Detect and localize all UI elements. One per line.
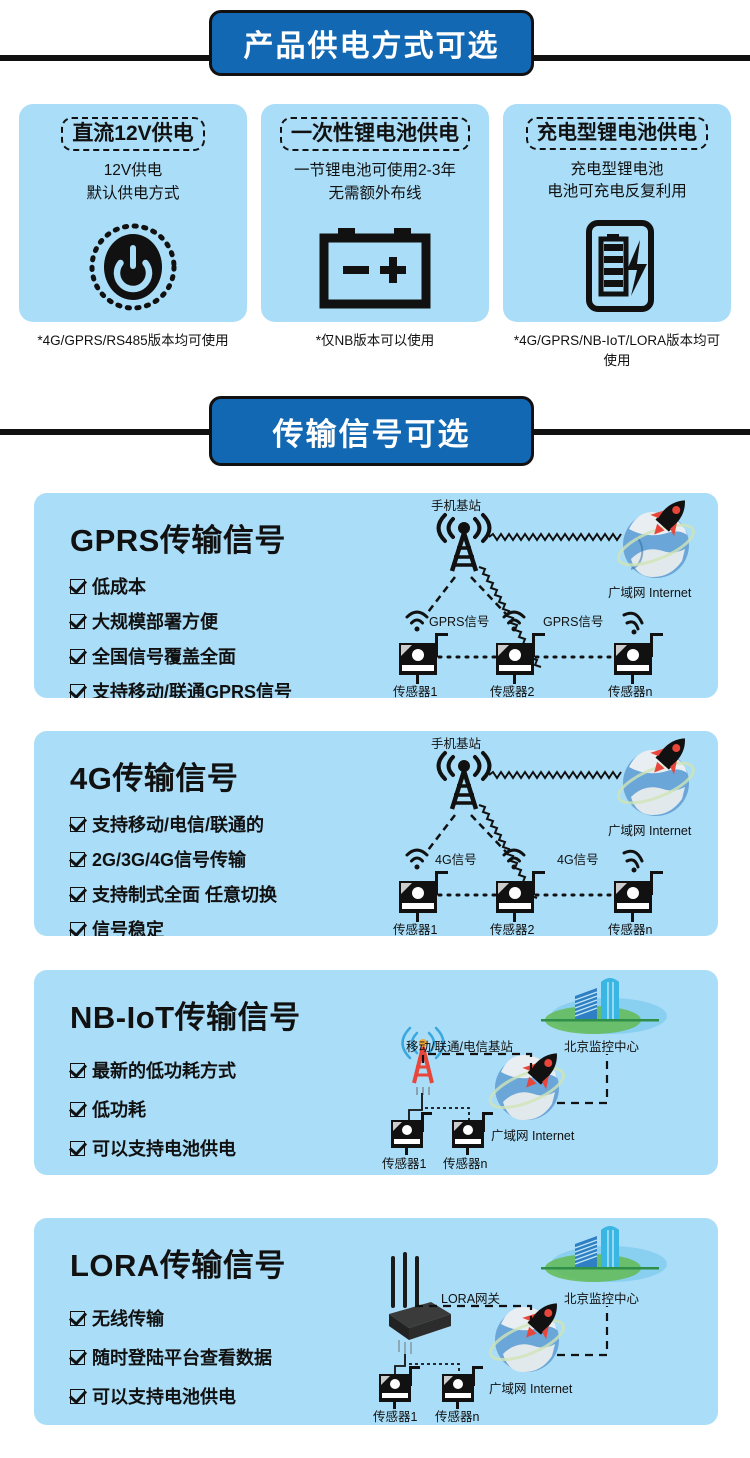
sensor-label: 传感器n — [435, 1406, 479, 1425]
wifi-icon — [504, 612, 524, 632]
diagram-lora: LORA网关 北京监控中心 广域网 Internet 传感器1 传感器n — [379, 1218, 718, 1425]
sensor-label: 传感器2 — [490, 681, 534, 698]
cell-tower-icon — [439, 515, 490, 571]
panel-4g-text: 4G传输信号 支持移动/电信/联通的 2G/3G/4G信号传输 支持制式全面 任… — [70, 753, 277, 936]
diagram-gprs: 手机基站 广域网 Internet GPRS信号 GPRS信号 传感器1 传感器… — [379, 493, 718, 698]
sensor-label: 传感器1 — [373, 1406, 417, 1425]
check-icon — [70, 579, 85, 594]
signal-label: 4G信号 — [435, 849, 477, 868]
feature-item: 全国信号覆盖全面 — [70, 643, 292, 669]
power-card-title: 一次性锂电池供电 — [280, 117, 470, 151]
power-card-desc-line1: 一节锂电池可使用2-3年 — [294, 160, 456, 182]
feature-item: 无线传输 — [70, 1305, 286, 1331]
power-card-note: *4G/GPRS/RS485版本均可使用 — [17, 331, 249, 351]
section-header-power: 产品供电方式可选 — [0, 0, 750, 95]
feature-label: 低成本 — [92, 573, 146, 599]
feature-label: 可以支持电池供电 — [92, 1135, 236, 1161]
feature-label: 支持制式全面 任意切换 — [92, 881, 277, 907]
city-icon — [541, 1226, 667, 1282]
feature-label: 全国信号覆盖全面 — [92, 643, 236, 669]
check-icon — [70, 1350, 85, 1365]
check-icon — [70, 1389, 85, 1404]
power-card-desc-line2: 电池可充电反复利用 — [547, 181, 687, 203]
feature-label: 2G/3G/4G信号传输 — [92, 846, 246, 872]
feature-item: 大规模部署方便 — [70, 608, 292, 634]
sensor-label: 传感器2 — [490, 919, 534, 936]
feature-label: 支持移动/联通GPRS信号 — [92, 678, 292, 698]
check-icon — [70, 684, 85, 699]
check-icon — [70, 1063, 85, 1078]
feature-label: 最新的低功耗方式 — [92, 1057, 236, 1083]
wifi-icon — [624, 613, 642, 634]
panel-nbiot-text: NB-IoT传输信号 最新的低功耗方式 低功耗 可以支持电池供电 — [70, 992, 301, 1170]
feature-item: 支持移动/联通GPRS信号 — [70, 678, 292, 698]
power-button-icon — [87, 211, 179, 322]
gateway-label: LORA网关 — [441, 1288, 500, 1307]
feature-item: 信号稳定 — [70, 916, 277, 936]
power-card-primary-lithium: 一次性锂电池供电 一节锂电池可使用2-3年 无需额外布线 *仅NB版本可以使用 — [261, 104, 489, 372]
sensor-label: 传感器1 — [382, 1153, 426, 1172]
sensor-label: 传感器1 — [393, 681, 437, 698]
panel-title: 4G传输信号 — [70, 753, 277, 798]
check-icon — [70, 1141, 85, 1156]
feature-item: 随时登陆平台查看数据 — [70, 1344, 286, 1370]
panel-title: LORA传输信号 — [70, 1240, 286, 1285]
power-card-desc-line1: 12V供电 — [86, 160, 179, 182]
section-title-plate-power: 产品供电方式可选 — [209, 10, 534, 76]
diagram-svg — [379, 970, 718, 1175]
signal-label: 4G信号 — [557, 849, 599, 868]
panel-gprs: GPRS传输信号 低成本 大规模部署方便 全国信号覆盖全面 支持移动/联通GPR… — [34, 493, 718, 698]
feature-label: 可以支持电池供电 — [92, 1383, 236, 1409]
power-card-note: *仅NB版本可以使用 — [259, 331, 491, 351]
sensor-label: 传感器n — [608, 919, 652, 936]
power-card-desc: 一节锂电池可使用2-3年 无需额外布线 — [294, 160, 456, 205]
feature-label: 无线传输 — [92, 1305, 164, 1331]
check-icon — [70, 649, 85, 664]
diagram-nbiot: 移动/联通/电信基站 北京监控中心 广域网 Internet 传感器1 传感器n — [379, 970, 718, 1175]
power-card-body: 充电型锂电池供电 充电型锂电池 电池可充电反复利用 — [503, 104, 731, 322]
feature-item: 支持移动/电信/联通的 — [70, 811, 277, 837]
panel-4g: 4G传输信号 支持移动/电信/联通的 2G/3G/4G信号传输 支持制式全面 任… — [34, 731, 718, 936]
power-card-body: 一次性锂电池供电 一节锂电池可使用2-3年 无需额外布线 — [261, 104, 489, 322]
sensor-icon — [391, 1112, 432, 1155]
power-card-desc-line2: 默认供电方式 — [86, 183, 179, 205]
power-card-body: 直流12V供电 12V供电 默认供电方式 — [19, 104, 247, 322]
sensor-icon — [442, 1366, 483, 1409]
sensor-icon — [379, 1366, 420, 1409]
sensor-label: 传感器n — [443, 1153, 487, 1172]
check-icon — [70, 1102, 85, 1117]
signal-label: GPRS信号 — [429, 611, 489, 630]
panel-title: GPRS传输信号 — [70, 515, 292, 560]
power-options-row: 直流12V供电 12V供电 默认供电方式 *4G/GPRS/RS485版本均可使… — [0, 104, 750, 372]
feature-item: 低成本 — [70, 573, 292, 599]
wifi-icon — [504, 850, 524, 870]
power-card-desc-line2: 无需额外布线 — [294, 183, 456, 205]
globe-icon — [614, 750, 699, 816]
panel-nbiot: NB-IoT传输信号 最新的低功耗方式 低功耗 可以支持电池供电 — [34, 970, 718, 1175]
feature-item: 2G/3G/4G信号传输 — [70, 846, 277, 872]
internet-label: 广域网 Internet — [608, 582, 691, 601]
check-icon — [70, 817, 85, 832]
check-icon — [70, 852, 85, 867]
feature-item: 低功耗 — [70, 1096, 301, 1122]
panel-lora: LORA传输信号 无线传输 随时登陆平台查看数据 可以支持电池供电 — [34, 1218, 718, 1425]
panel-feature-list: 支持移动/电信/联通的 2G/3G/4G信号传输 支持制式全面 任意切换 信号稳… — [70, 811, 277, 936]
section-header-signal: 传输信号可选 — [0, 396, 750, 476]
wifi-icon — [407, 612, 427, 632]
power-card-desc: 12V供电 默认供电方式 — [86, 160, 179, 205]
panel-feature-list: 最新的低功耗方式 低功耗 可以支持电池供电 — [70, 1057, 301, 1161]
feature-item: 支持制式全面 任意切换 — [70, 881, 277, 907]
sensor-label: 传感器1 — [393, 919, 437, 936]
feature-label: 随时登陆平台查看数据 — [92, 1344, 272, 1370]
sensor-icon — [614, 871, 663, 922]
tower-label: 手机基站 — [431, 495, 481, 514]
section-title-signal: 传输信号可选 — [273, 409, 471, 454]
sensor-label: 传感器n — [608, 681, 652, 698]
internet-label: 广域网 Internet — [491, 1125, 574, 1144]
power-card-dc12v: 直流12V供电 12V供电 默认供电方式 *4G/GPRS/RS485版本均可使… — [19, 104, 247, 372]
monitor-center-label: 北京监控中心 — [564, 1288, 639, 1307]
feature-label: 大规模部署方便 — [92, 608, 218, 634]
feature-label: 信号稳定 — [92, 916, 164, 936]
check-icon — [70, 1311, 85, 1326]
feature-item: 可以支持电池供电 — [70, 1383, 286, 1409]
sensor-icon — [614, 633, 663, 684]
check-icon — [70, 614, 85, 629]
power-card-desc: 充电型锂电池 电池可充电反复利用 — [547, 159, 687, 204]
power-card-desc-line1: 充电型锂电池 — [547, 159, 687, 181]
cell-tower-icon — [439, 753, 490, 809]
base-station-label: 移动/联通/电信基站 — [406, 1036, 513, 1055]
check-icon — [70, 887, 85, 902]
section-title-plate-signal: 传输信号可选 — [209, 396, 534, 466]
monitor-center-label: 北京监控中心 — [564, 1036, 639, 1055]
power-card-title: 充电型锂电池供电 — [526, 117, 708, 150]
feature-label: 低功耗 — [92, 1096, 146, 1122]
wifi-icon — [407, 850, 427, 870]
panel-title: NB-IoT传输信号 — [70, 992, 301, 1037]
feature-item: 可以支持电池供电 — [70, 1135, 301, 1161]
feature-item: 最新的低功耗方式 — [70, 1057, 301, 1083]
panel-lora-text: LORA传输信号 无线传输 随时登陆平台查看数据 可以支持电池供电 — [70, 1240, 286, 1418]
power-card-title: 直流12V供电 — [61, 117, 204, 151]
power-card-rechargeable-lithium: 充电型锂电池供电 充电型锂电池 电池可充电反复利用 *4G/GPRS/NB-Io… — [503, 104, 731, 372]
internet-label: 广域网 Internet — [608, 820, 691, 839]
signal-label: GPRS信号 — [543, 611, 603, 630]
internet-label: 广域网 Internet — [489, 1378, 572, 1397]
diagram-4g: 手机基站 广域网 Internet 4G信号 4G信号 传感器1 传感器2 传感… — [379, 731, 718, 936]
wifi-icon — [624, 851, 642, 872]
sensor-icon — [452, 1112, 493, 1155]
panel-gprs-text: GPRS传输信号 低成本 大规模部署方便 全国信号覆盖全面 支持移动/联通GPR… — [70, 515, 292, 698]
section-title-power: 产品供电方式可选 — [244, 21, 500, 65]
panel-feature-list: 无线传输 随时登陆平台查看数据 可以支持电池供电 — [70, 1305, 286, 1409]
globe-icon — [614, 512, 699, 578]
tower-label: 手机基站 — [431, 733, 481, 752]
power-card-note: *4G/GPRS/NB-IoT/LORA版本均可使用 — [508, 331, 726, 372]
feature-label: 支持移动/电信/联通的 — [92, 811, 264, 837]
city-icon — [541, 978, 667, 1034]
panel-feature-list: 低成本 大规模部署方便 全国信号覆盖全面 支持移动/联通GPRS信号 — [70, 573, 292, 698]
car-battery-icon — [320, 211, 430, 322]
rechargeable-battery-icon — [569, 210, 665, 322]
check-icon — [70, 922, 85, 937]
globe-icon — [486, 1055, 569, 1120]
